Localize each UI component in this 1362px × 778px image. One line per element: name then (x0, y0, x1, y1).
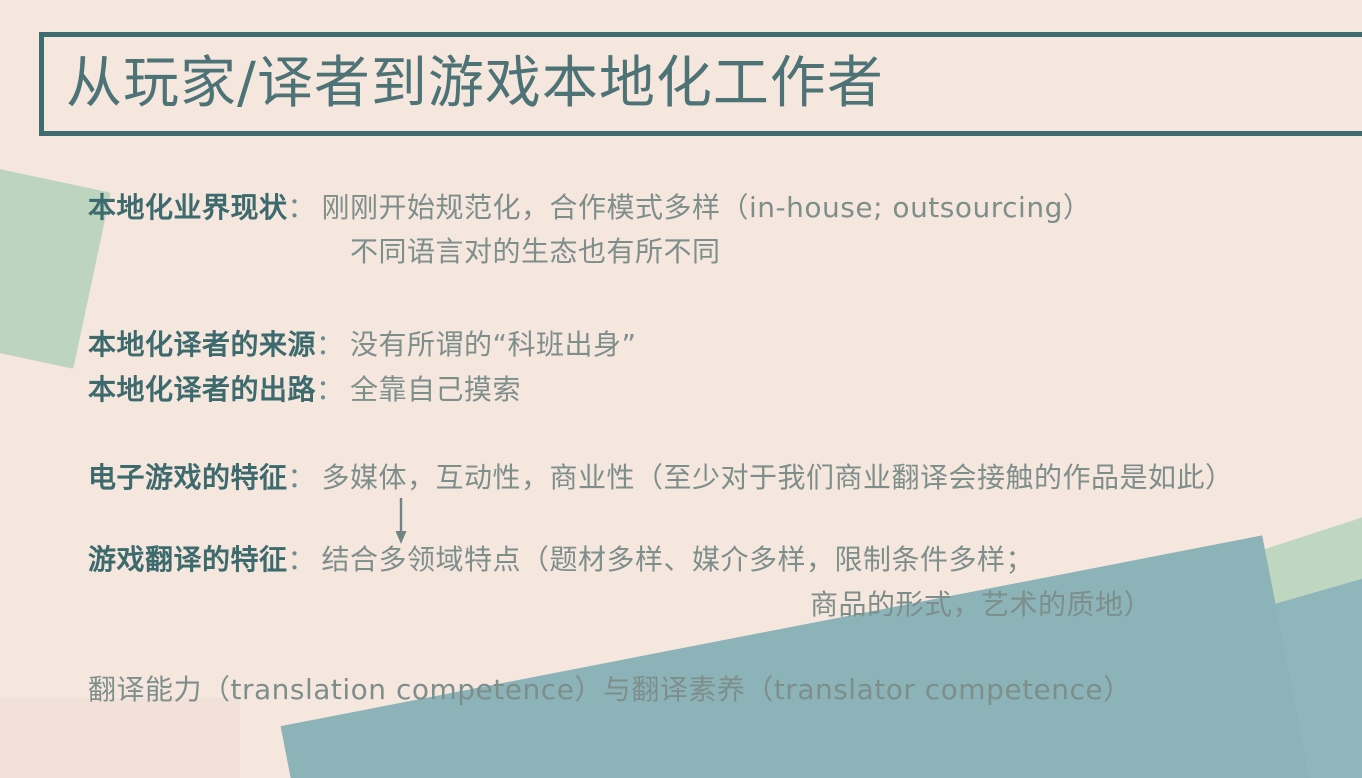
row-colon: ： (316, 331, 350, 359)
row-translator-source: 本地化译者的来源 ： 没有所谓的“科班出身” (0, 331, 637, 359)
decorative-shape-bottomright-green (885, 500, 1362, 778)
row-label: 游戏翻译的特征 (0, 546, 288, 574)
row-value: 没有所谓的“科班出身” (350, 331, 637, 359)
slide-title-box: 从玩家/译者到游戏本地化工作者 (39, 32, 1362, 136)
row-translator-future: 本地化译者的出路 ： 全靠自己摸索 (0, 376, 521, 404)
decorative-shape-bottomleft-fade (0, 698, 240, 778)
row-gametranslation-traits: 游戏翻译的特征 ： 结合多领域特点（题材多样、媒介多样，限制条件多样； (0, 546, 1034, 574)
row-value: 全靠自己摸索 (350, 376, 521, 404)
row-colon: ： (316, 376, 350, 404)
down-arrow-icon (386, 498, 416, 544)
row-colon: ： (288, 464, 322, 492)
footer-competence-line: 翻译能力（translation competence）与翻译素养（transl… (0, 676, 1132, 704)
row-industry-status: 本地化业界现状 ： 刚刚开始规范化，合作模式多样（in-house; outso… (0, 194, 1091, 222)
decorative-shape-bottomright-teal (1174, 578, 1362, 778)
row-label: 本地化业界现状 (0, 194, 288, 222)
row-gametranslation-traits-continuation: 商品的形式，艺术的质地） (0, 591, 1152, 619)
row-value: 刚刚开始规范化，合作模式多样（in-house; outsourcing） (322, 194, 1092, 222)
row-label: 本地化译者的来源 (0, 331, 316, 359)
slide-canvas: 从玩家/译者到游戏本地化工作者 本地化业界现状 ： 刚刚开始规范化，合作模式多样… (0, 0, 1362, 778)
row-label: 本地化译者的出路 (0, 376, 316, 404)
row-industry-status-continuation: 不同语言对的生态也有所不同 (0, 238, 721, 266)
row-value: 多媒体，互动性，商业性（至少对于我们商业翻译会接触的作品是如此） (322, 464, 1234, 492)
row-videogame-traits: 电子游戏的特征 ： 多媒体，互动性，商业性（至少对于我们商业翻译会接触的作品是如… (0, 464, 1234, 492)
page-title: 从玩家/译者到游戏本地化工作者 (44, 56, 884, 112)
row-value: 结合多领域特点（题材多样、媒介多样，限制条件多样； (322, 546, 1035, 574)
row-label: 电子游戏的特征 (0, 464, 288, 492)
row-colon: ： (288, 546, 322, 574)
row-colon: ： (288, 194, 322, 222)
